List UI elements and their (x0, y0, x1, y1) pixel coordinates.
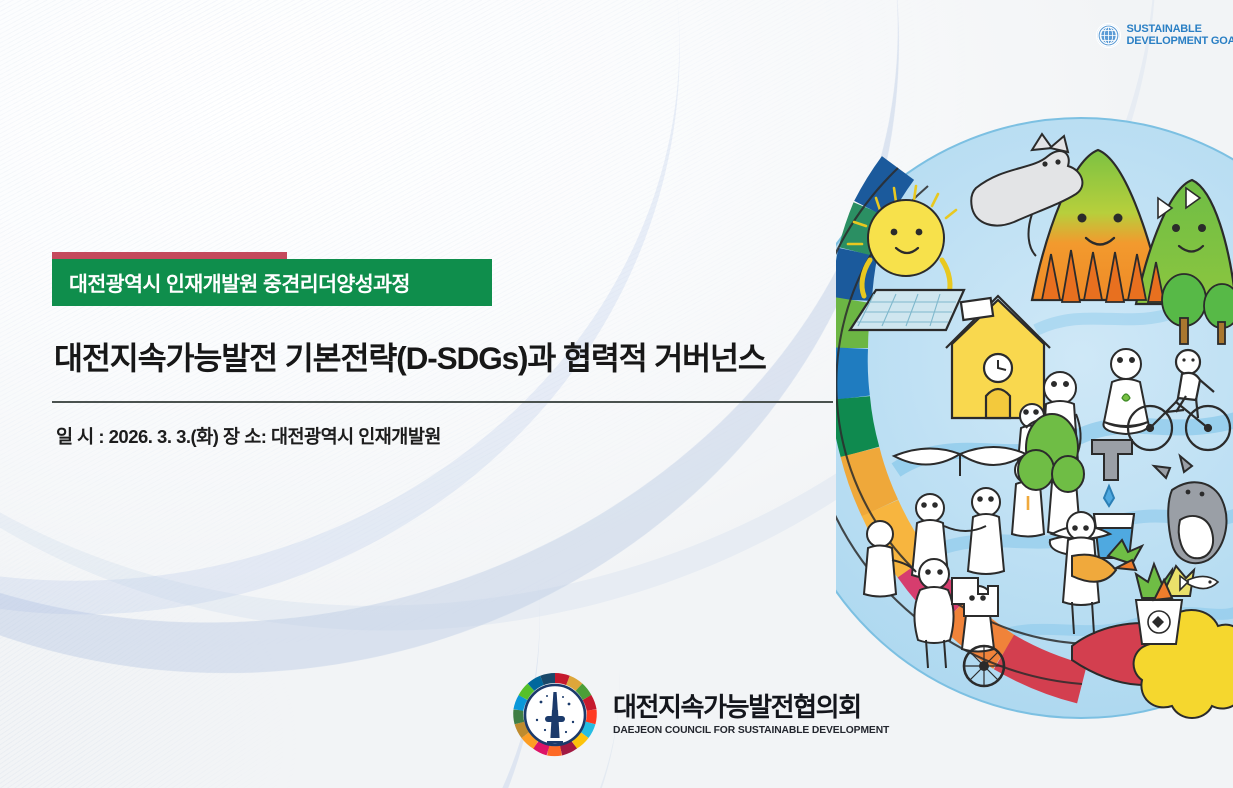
sdg-wheel-tower-icon (512, 672, 598, 758)
logo-name-korean: 대전지속가능발전협의회 (613, 694, 889, 721)
title-divider (52, 401, 833, 403)
presentation-slide: SUSTAINABLE DEVELOPMENT GOALS (0, 0, 1233, 788)
course-kicker-banner: 대전광역시 인재개발원 중견리더양성과정 (52, 259, 492, 306)
background-hatch-texture-bottom (0, 430, 540, 788)
organization-logo: 대전지속가능발전협의회 DAEJEON COUNCIL FOR SUSTAINA… (512, 672, 889, 758)
logo-name-english: DAEJEON COUNCIL FOR SUSTAINABLE DEVELOPM… (613, 725, 889, 736)
title-text-block: 대전광역시 인재개발원 중견리더양성과정 대전지속가능발전 기본전략(D-SDG… (52, 252, 842, 449)
page-title: 대전지속가능발전 기본전략(D-SDGs)과 협력적 거버넌스 (54, 333, 842, 379)
meditating-person-icon (1103, 349, 1148, 434)
sdg-community-illustration (836, 0, 1233, 788)
logo-text-group: 대전지속가능발전협의회 DAEJEON COUNCIL FOR SUSTAINA… (613, 694, 889, 735)
kicker-accent-bar (52, 252, 287, 259)
event-meta-line: 일 시 : 2026. 3. 3.(화) 장 소: 대전광역시 인재개발원 (56, 423, 842, 449)
